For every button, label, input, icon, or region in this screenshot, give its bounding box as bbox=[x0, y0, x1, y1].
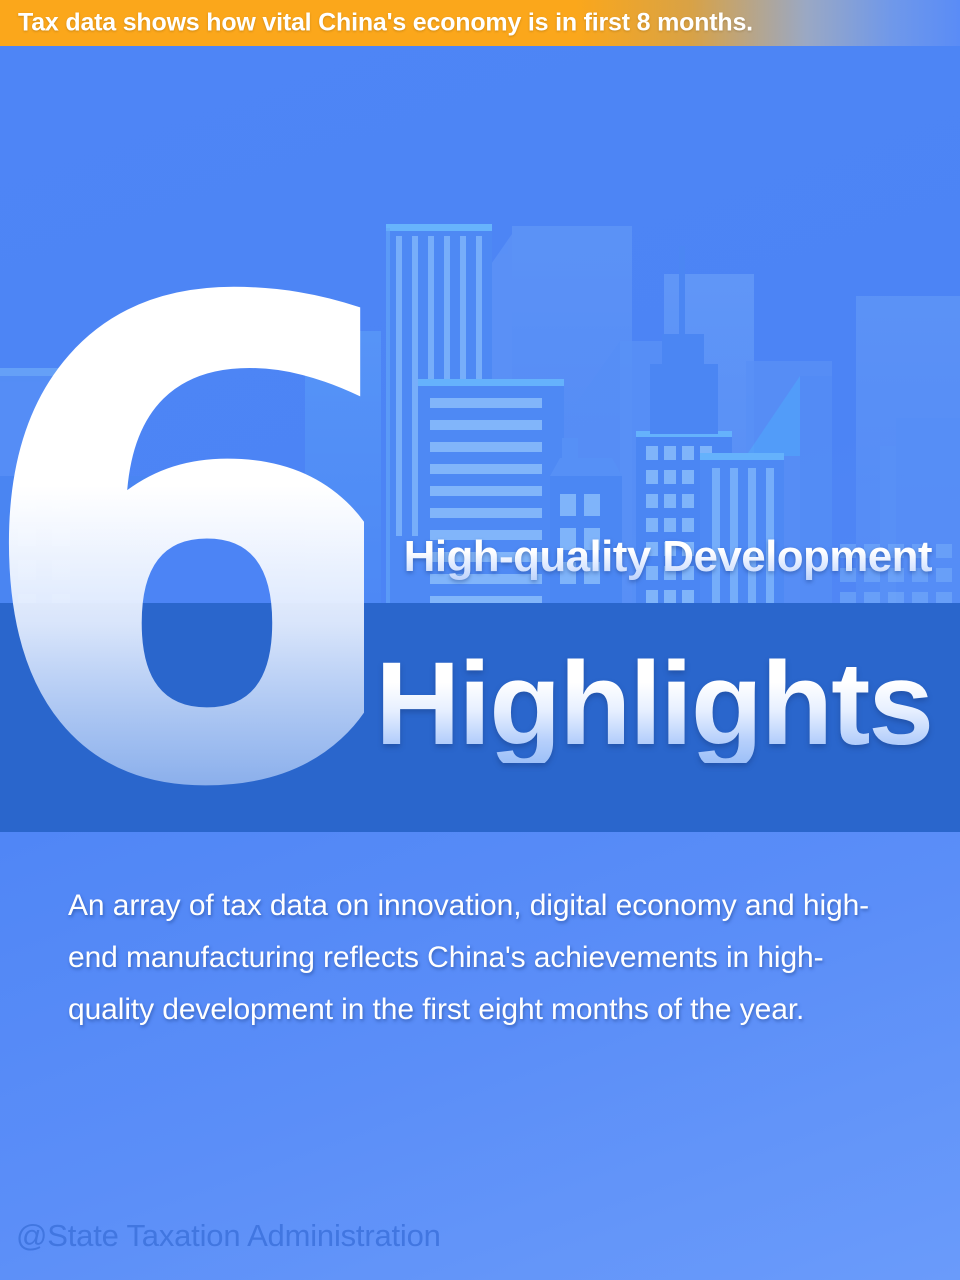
infographic-poster: 6 Tax data shows how vital China's econo… bbox=[0, 0, 960, 1280]
headline-bar: Tax data shows how vital China's economy… bbox=[0, 0, 960, 46]
headline-text: Tax data shows how vital China's economy… bbox=[18, 9, 753, 38]
source-credit: @State Taxation Administration bbox=[16, 1218, 441, 1254]
body-paragraph: An array of tax data on innovation, digi… bbox=[68, 880, 908, 1036]
title-highlights: Highlights bbox=[375, 645, 932, 763]
subtitle-high-quality-development: High-quality Development bbox=[404, 532, 932, 582]
